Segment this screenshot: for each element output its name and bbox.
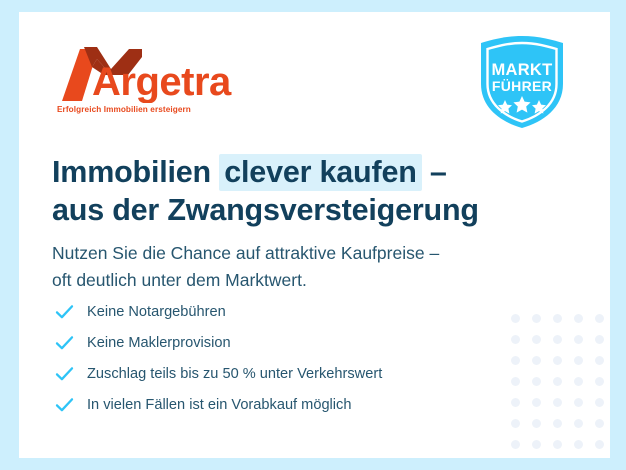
subheading-line1: Nutzen Sie die Chance auf attraktive Kau…	[52, 240, 562, 267]
decorative-dot	[532, 314, 541, 323]
promo-banner: Argetra Erfolgreich Immobilien ersteiger…	[0, 0, 626, 470]
benefits-list: Keine NotargebührenKeine Maklerprovision…	[52, 296, 522, 420]
decorative-dot	[574, 419, 583, 428]
badge-line1: MARKT	[491, 61, 552, 79]
headline-highlight: clever kaufen	[219, 154, 421, 191]
badge-line2: FÜHRER	[492, 78, 552, 94]
decorative-dot	[532, 440, 541, 449]
decorative-dot	[553, 440, 562, 449]
decorative-dot	[553, 335, 562, 344]
logo-tagline: Erfolgreich Immobilien ersteigern	[57, 105, 191, 114]
decorative-dot	[574, 335, 583, 344]
decorative-dot	[574, 314, 583, 323]
decorative-dot	[595, 314, 604, 323]
decorative-dot	[595, 335, 604, 344]
decorative-dot	[595, 398, 604, 407]
argetra-logo[interactable]: Argetra Erfolgreich Immobilien ersteiger…	[56, 45, 256, 123]
decorative-dot	[553, 377, 562, 386]
list-item-label: Keine Maklerprovision	[87, 335, 231, 351]
page-title: Immobilien clever kaufen – aus der Zwang…	[52, 154, 572, 230]
decorative-dot	[595, 419, 604, 428]
headline-line2: aus der Zwangsversteigerung	[52, 192, 572, 230]
decorative-dot	[553, 356, 562, 365]
list-item-label: Zuschlag teils bis zu 50 % unter Verkehr…	[87, 366, 382, 382]
list-item: In vielen Fällen ist ein Vorabkauf mögli…	[52, 389, 522, 420]
decorative-dot	[511, 419, 520, 428]
list-item: Zuschlag teils bis zu 50 % unter Verkehr…	[52, 358, 522, 389]
list-item: Keine Notargebühren	[52, 296, 522, 327]
decorative-dot	[574, 377, 583, 386]
logo-mark-icon: Argetra	[56, 45, 246, 103]
headline-part2: –	[422, 155, 447, 189]
list-item: Keine Maklerprovision	[52, 327, 522, 358]
decorative-dot	[595, 356, 604, 365]
check-icon	[52, 366, 87, 382]
decorative-dot	[532, 398, 541, 407]
decorative-dot	[553, 314, 562, 323]
decorative-dot	[532, 377, 541, 386]
subheading-line2: oft deutlich unter dem Marktwert.	[52, 267, 562, 294]
decorative-dot	[532, 356, 541, 365]
banner-card: Argetra Erfolgreich Immobilien ersteiger…	[19, 12, 610, 458]
decorative-dot	[511, 440, 520, 449]
decorative-dot	[553, 419, 562, 428]
decorative-dot	[595, 377, 604, 386]
decorative-dot	[532, 419, 541, 428]
subheading: Nutzen Sie die Chance auf attraktive Kau…	[52, 240, 562, 294]
list-item-label: In vielen Fällen ist ein Vorabkauf mögli…	[87, 397, 351, 413]
decorative-dot	[595, 440, 604, 449]
decorative-dot	[574, 356, 583, 365]
decorative-dot	[574, 440, 583, 449]
check-icon	[52, 335, 87, 351]
headline-part1: Immobilien	[52, 155, 219, 189]
decorative-dot	[532, 335, 541, 344]
list-item-label: Keine Notargebühren	[87, 304, 226, 320]
market-leader-badge: MARKT FÜHRER	[477, 34, 567, 130]
decorative-dot	[574, 398, 583, 407]
check-icon	[52, 397, 87, 413]
svg-text:Argetra: Argetra	[92, 60, 232, 103]
check-icon	[52, 304, 87, 320]
decorative-dot	[553, 398, 562, 407]
